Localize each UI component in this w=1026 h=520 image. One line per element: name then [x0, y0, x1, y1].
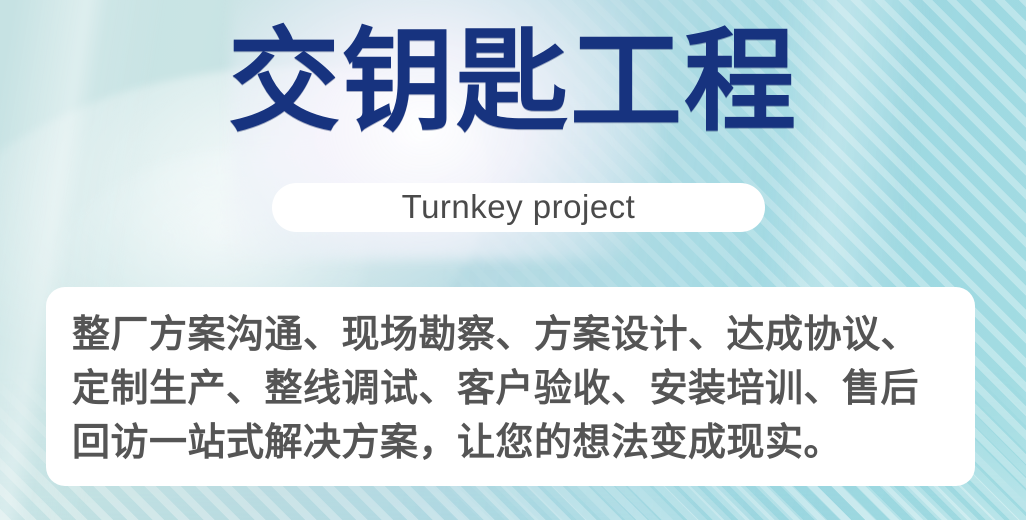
description-card: 整厂方案沟通、现场勘察、方案设计、达成协议、 定制生产、整线调试、客户验收、安装… [46, 287, 975, 486]
subtitle-pill: Turnkey project [272, 183, 765, 232]
subtitle-text: Turnkey project [402, 190, 636, 225]
description-line: 定制生产、整线调试、客户验收、安装培训、售后 [72, 361, 949, 415]
page-title: 交钥匙工程 [0, 16, 1026, 148]
description-line: 回访一站式解决方案，让您的想法变成现实。 [72, 415, 949, 469]
turnkey-project-banner: 交钥匙工程 Turnkey project 整厂方案沟通、现场勘察、方案设计、达… [0, 0, 1026, 520]
banner-content: 交钥匙工程 Turnkey project 整厂方案沟通、现场勘察、方案设计、达… [0, 0, 1026, 520]
description-line: 整厂方案沟通、现场勘察、方案设计、达成协议、 [72, 307, 949, 361]
